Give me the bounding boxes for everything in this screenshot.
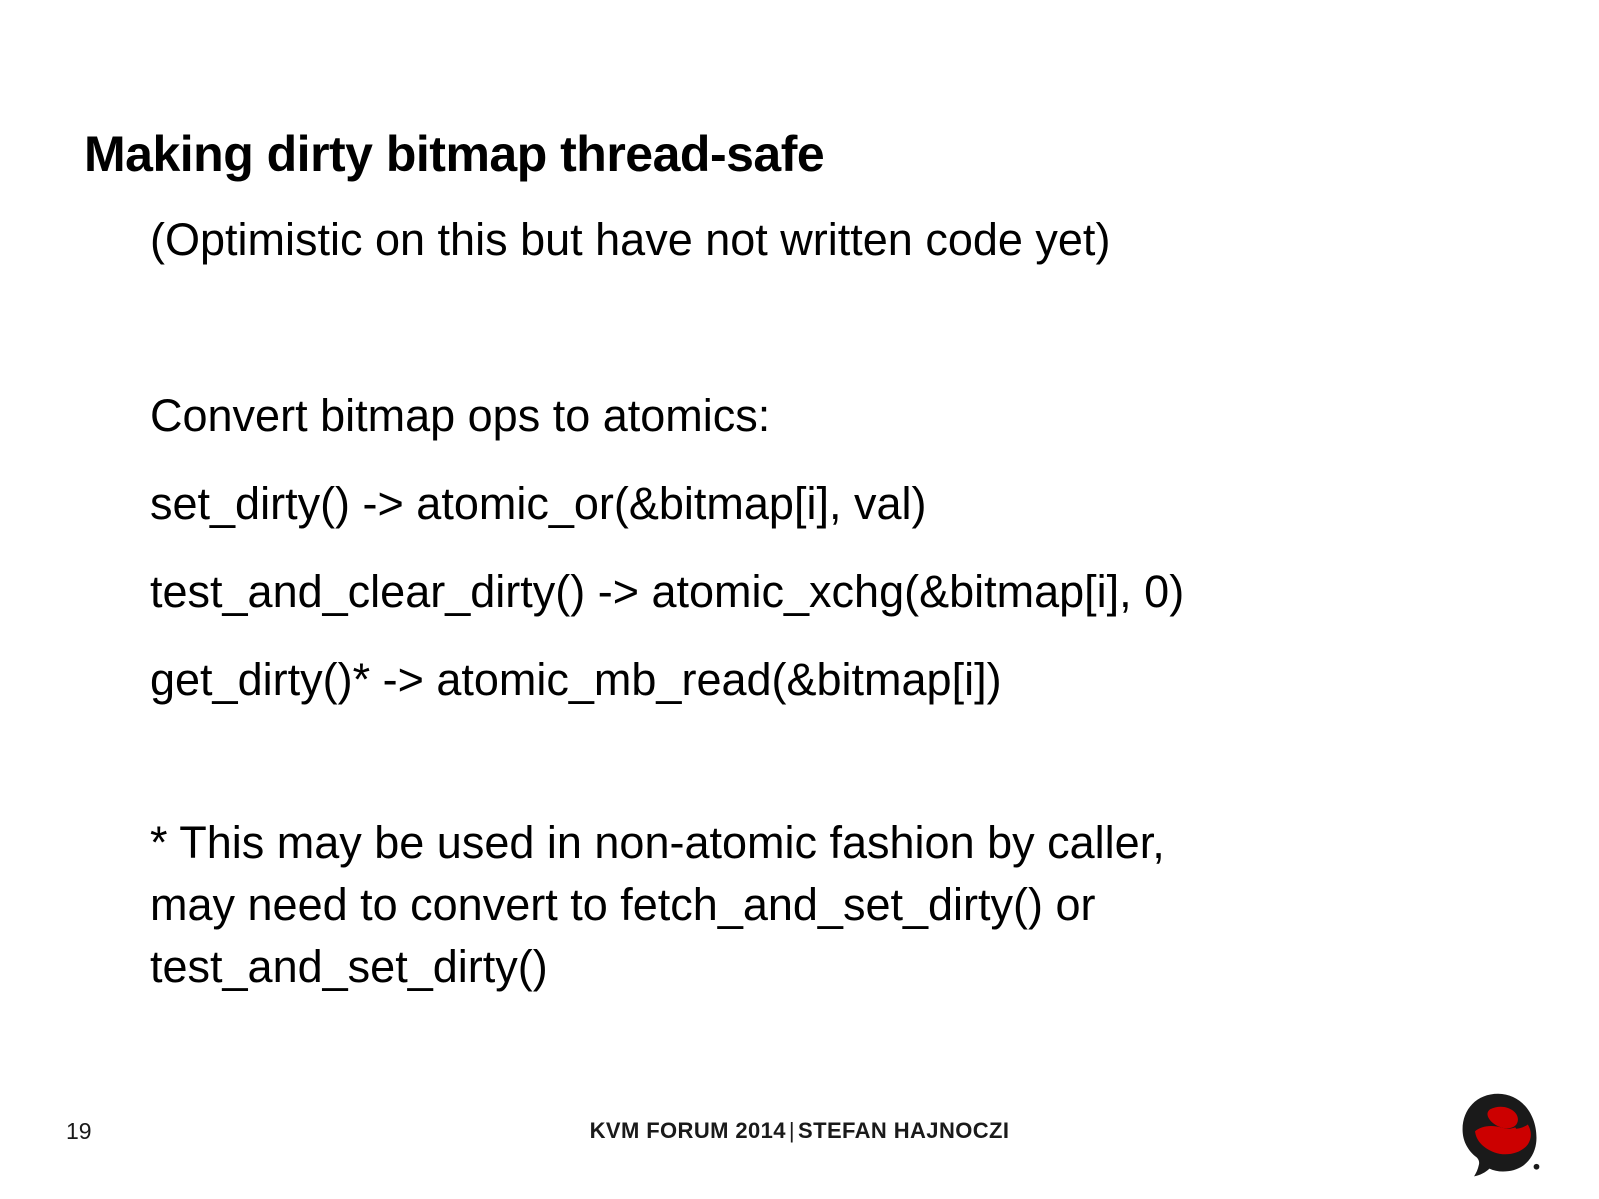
- red-hat-shadowman-logo: [1452, 1088, 1548, 1184]
- footer-presenter-name: STEFAN HAJNOCZI: [798, 1118, 1009, 1143]
- body-spacer-2: [150, 724, 1490, 812]
- footer-separator: |: [786, 1118, 798, 1143]
- footnote-paragraph: * This may be used in non-atomic fashion…: [150, 812, 1490, 998]
- footer-event-name: KVM FORUM 2014: [590, 1118, 786, 1143]
- conversion-line-set-dirty: set_dirty() -> atomic_or(&bitmap[i], val…: [150, 460, 1490, 548]
- convert-section-heading: Convert bitmap ops to atomics:: [150, 372, 1490, 460]
- conversion-line-get-dirty: get_dirty()* -> atomic_mb_read(&bitmap[i…: [150, 636, 1490, 724]
- slide-title: Making dirty bitmap thread-safe: [84, 126, 1504, 182]
- conversion-line-test-and-clear-dirty: test_and_clear_dirty() -> atomic_xchg(&b…: [150, 548, 1490, 636]
- footnote-line-2: may need to convert to fetch_and_set_dir…: [150, 874, 1490, 936]
- optimistic-note-line: (Optimistic on this but have not written…: [150, 196, 1490, 284]
- body-spacer-1: [150, 284, 1490, 372]
- footer-credit: KVM FORUM 2014|STEFAN HAJNOCZI: [0, 1120, 1599, 1142]
- footnote-line-1: * This may be used in non-atomic fashion…: [150, 812, 1490, 874]
- slide-body: (Optimistic on this but have not written…: [150, 196, 1490, 998]
- presentation-slide: Making dirty bitmap thread-safe (Optimis…: [0, 0, 1599, 1199]
- footnote-line-3: test_and_set_dirty(): [150, 936, 1490, 998]
